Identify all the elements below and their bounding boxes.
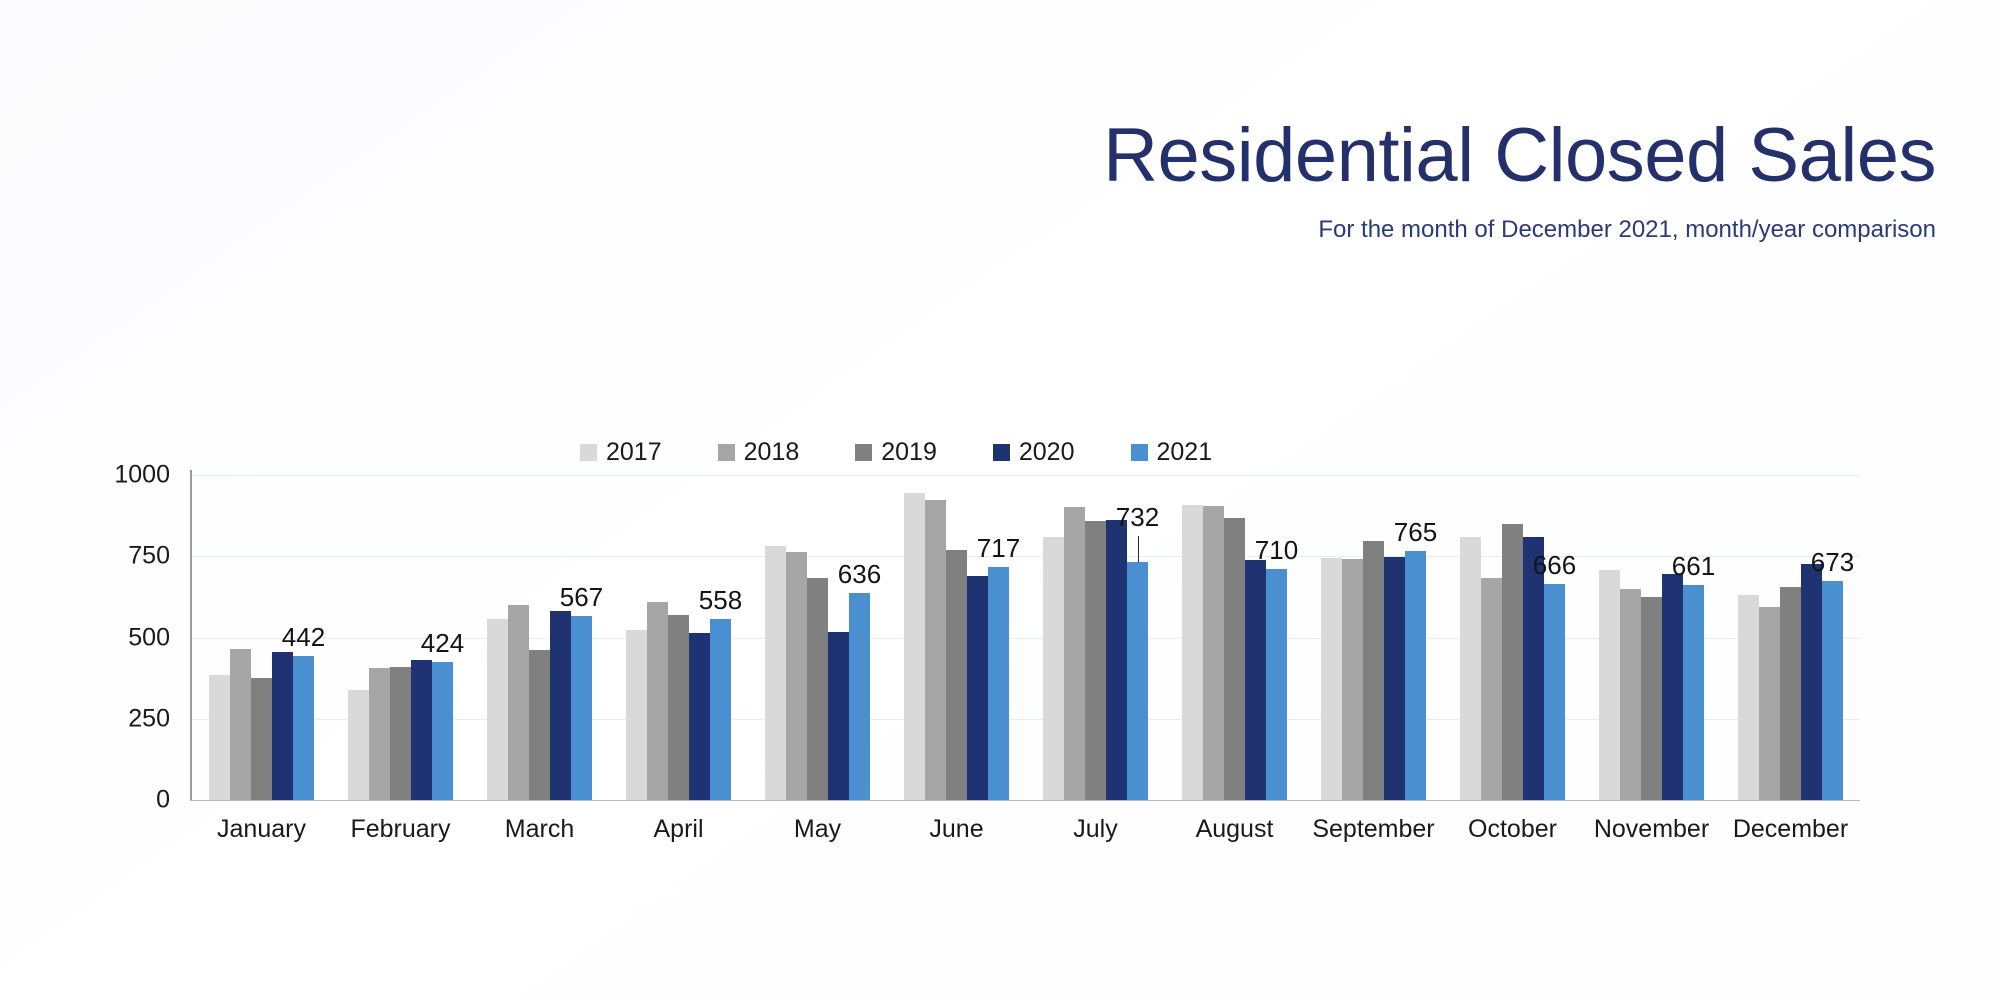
bar-data-label: 710 <box>1255 537 1298 563</box>
bar-april-2019[interactable] <box>668 615 689 800</box>
bar-data-label: 673 <box>1811 549 1854 575</box>
bar-may-2021[interactable]: 636 <box>849 593 870 800</box>
bar-july-2017[interactable] <box>1043 537 1064 800</box>
bar-group-may: 636 <box>748 475 887 800</box>
legend-swatch-icon <box>993 444 1010 461</box>
bar-group-january: 442 <box>192 475 331 800</box>
bar-november-2020[interactable] <box>1662 574 1683 800</box>
plot-area: 442424567558636717732710765666661673 <box>192 475 1860 800</box>
bar-august-2018[interactable] <box>1203 506 1224 800</box>
bar-january-2017[interactable] <box>209 675 230 800</box>
legend-label: 2020 <box>1019 440 1075 465</box>
legend-label: 2017 <box>606 440 662 465</box>
bar-july-2020[interactable] <box>1106 520 1127 800</box>
y-axis-ticks: 02505007501000 <box>140 475 182 800</box>
bar-data-label: 661 <box>1672 553 1715 579</box>
legend-item-2017[interactable]: 2017 <box>580 440 662 465</box>
page-title: Residential Closed Sales <box>636 118 1936 194</box>
bar-may-2018[interactable] <box>786 552 807 800</box>
bar-group-november: 661 <box>1582 475 1721 800</box>
bar-september-2021[interactable]: 765 <box>1405 551 1426 800</box>
bar-data-label: 424 <box>421 630 464 656</box>
bar-february-2018[interactable] <box>369 668 390 800</box>
x-axis-label-july: July <box>1026 815 1165 844</box>
bar-february-2020[interactable] <box>411 660 432 800</box>
x-axis-label-august: August <box>1165 815 1304 844</box>
bar-january-2018[interactable] <box>230 649 251 800</box>
bar-data-label: 636 <box>838 561 881 587</box>
legend-swatch-icon <box>1131 444 1148 461</box>
bar-group-june: 717 <box>887 475 1026 800</box>
bar-june-2020[interactable] <box>967 576 988 800</box>
x-axis-label-june: June <box>887 815 1026 844</box>
bar-august-2021[interactable]: 710 <box>1266 569 1287 800</box>
y-axis-tick-250: 250 <box>128 704 170 733</box>
bar-april-2020[interactable] <box>689 633 710 800</box>
bar-january-2021[interactable]: 442 <box>293 656 314 800</box>
x-axis-label-september: September <box>1304 815 1443 844</box>
bar-august-2019[interactable] <box>1224 518 1245 800</box>
bar-december-2018[interactable] <box>1759 607 1780 800</box>
x-axis-label-december: December <box>1721 815 1860 844</box>
bar-april-2021[interactable]: 558 <box>710 619 731 800</box>
bar-group-february: 424 <box>331 475 470 800</box>
bar-may-2020[interactable] <box>828 632 849 800</box>
bar-march-2019[interactable] <box>529 650 550 800</box>
bar-data-label: 666 <box>1533 552 1576 578</box>
legend-item-2020[interactable]: 2020 <box>993 440 1075 465</box>
bar-march-2017[interactable] <box>487 619 508 800</box>
y-axis-tick-1000: 1000 <box>114 461 170 490</box>
legend-swatch-icon <box>718 444 735 461</box>
bar-group-august: 710 <box>1165 475 1304 800</box>
page-subtitle: For the month of December 2021, month/ye… <box>636 216 1936 244</box>
bar-august-2017[interactable] <box>1182 505 1203 800</box>
bar-data-label: 732 <box>1116 504 1159 530</box>
bar-february-2019[interactable] <box>390 667 411 800</box>
bar-june-2019[interactable] <box>946 550 967 800</box>
bar-december-2017[interactable] <box>1738 595 1759 800</box>
x-axis-label-january: January <box>192 815 331 844</box>
bar-september-2019[interactable] <box>1363 541 1384 800</box>
bar-september-2018[interactable] <box>1342 559 1363 800</box>
bar-january-2019[interactable] <box>251 678 272 800</box>
x-axis-label-november: November <box>1582 815 1721 844</box>
bar-may-2019[interactable] <box>807 578 828 800</box>
data-label-leader-line <box>1138 536 1139 562</box>
legend-swatch-icon <box>580 444 597 461</box>
bar-data-label: 442 <box>282 624 325 650</box>
bar-july-2018[interactable] <box>1064 507 1085 800</box>
y-axis-tick-0: 0 <box>156 786 170 815</box>
bar-october-2019[interactable] <box>1502 524 1523 800</box>
x-axis-label-february: February <box>331 815 470 844</box>
bar-june-2018[interactable] <box>925 500 946 800</box>
legend-item-2018[interactable]: 2018 <box>718 440 800 465</box>
bar-december-2021[interactable]: 673 <box>1822 581 1843 800</box>
bar-data-label: 717 <box>977 535 1020 561</box>
bar-march-2018[interactable] <box>508 605 529 800</box>
legend-label: 2019 <box>881 440 937 465</box>
bar-september-2020[interactable] <box>1384 557 1405 800</box>
bar-march-2020[interactable] <box>550 611 571 800</box>
bar-chart: 02505007501000 4424245675586367177327107… <box>150 430 1860 810</box>
bar-data-label: 765 <box>1394 519 1437 545</box>
bar-july-2019[interactable] <box>1085 521 1106 800</box>
legend-label: 2021 <box>1157 440 1213 465</box>
bar-group-december: 673 <box>1721 475 1860 800</box>
bar-december-2019[interactable] <box>1780 587 1801 800</box>
x-axis-label-march: March <box>470 815 609 844</box>
bar-group-september: 765 <box>1304 475 1443 800</box>
legend-label: 2018 <box>744 440 800 465</box>
legend-swatch-icon <box>855 444 872 461</box>
bar-october-2021[interactable]: 666 <box>1544 584 1565 800</box>
x-axis-label-april: April <box>609 815 748 844</box>
bar-february-2021[interactable]: 424 <box>432 662 453 800</box>
bar-october-2018[interactable] <box>1481 578 1502 800</box>
bar-september-2017[interactable] <box>1321 558 1342 800</box>
bar-july-2021[interactable]: 732 <box>1127 562 1148 800</box>
x-axis-label-october: October <box>1443 815 1582 844</box>
gridline <box>190 800 1860 801</box>
chart-legend: 20172018201920202021 <box>580 440 1212 465</box>
bar-april-2018[interactable] <box>647 602 668 800</box>
y-axis-tick-500: 500 <box>128 623 170 652</box>
bar-august-2020[interactable] <box>1245 560 1266 800</box>
legend-item-2019[interactable]: 2019 <box>855 440 937 465</box>
bar-group-july: 732 <box>1026 475 1165 800</box>
bar-june-2017[interactable] <box>904 493 925 800</box>
bar-february-2017[interactable] <box>348 690 369 801</box>
bar-group-april: 558 <box>609 475 748 800</box>
bar-data-label: 558 <box>699 587 742 613</box>
y-axis-tick-750: 750 <box>128 542 170 571</box>
bar-january-2020[interactable] <box>272 652 293 800</box>
bar-november-2021[interactable]: 661 <box>1683 585 1704 800</box>
bar-may-2017[interactable] <box>765 546 786 800</box>
bar-november-2017[interactable] <box>1599 570 1620 800</box>
bar-november-2019[interactable] <box>1641 597 1662 800</box>
bar-december-2020[interactable] <box>1801 564 1822 800</box>
bar-june-2021[interactable]: 717 <box>988 567 1009 800</box>
x-axis-label-may: May <box>748 815 887 844</box>
bar-group-october: 666 <box>1443 475 1582 800</box>
x-axis-labels: JanuaryFebruaryMarchAprilMayJuneJulyAugu… <box>192 815 1860 844</box>
bar-november-2018[interactable] <box>1620 589 1641 800</box>
bar-group-march: 567 <box>470 475 609 800</box>
bar-data-label: 567 <box>560 584 603 610</box>
bar-march-2021[interactable]: 567 <box>571 616 592 800</box>
bar-october-2017[interactable] <box>1460 537 1481 800</box>
chart-header: Residential Closed Sales For the month o… <box>636 118 1936 244</box>
bar-april-2017[interactable] <box>626 630 647 800</box>
legend-item-2021[interactable]: 2021 <box>1131 440 1213 465</box>
